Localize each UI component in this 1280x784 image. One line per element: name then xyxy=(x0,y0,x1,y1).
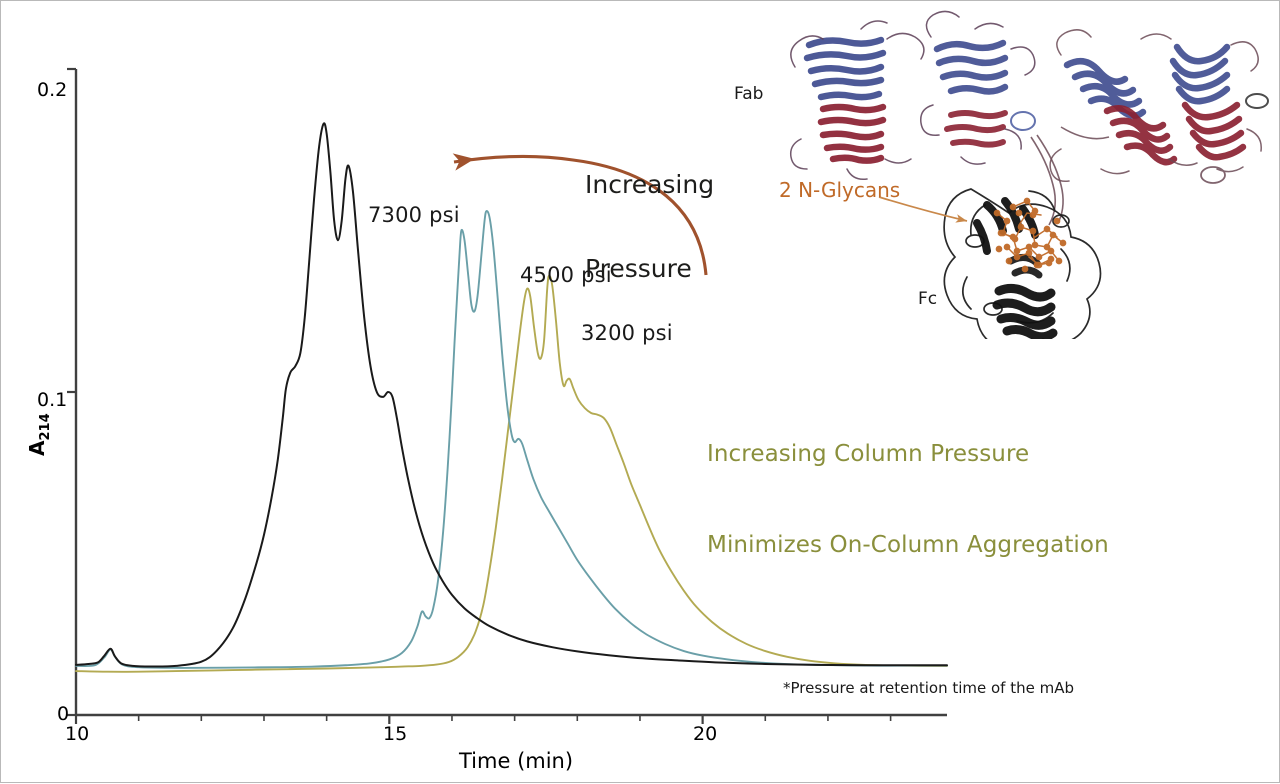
y-axis-title-main: A xyxy=(25,441,49,456)
fc-domain xyxy=(944,189,1100,339)
increasing-pressure-line1: Increasing xyxy=(585,171,714,199)
fab-left-domain xyxy=(791,21,924,179)
y-tick-0.2: 0.2 xyxy=(37,79,67,101)
figure-canvas: 0.2 0.1 0 A214 10 15 20 Time (min) 7300 … xyxy=(0,0,1280,783)
y-tick-0.1: 0.1 xyxy=(37,389,67,411)
x-axis-title: Time (min) xyxy=(459,749,573,773)
y-axis-title: A214 xyxy=(25,413,53,456)
conclusion-text: Increasing Column Pressure Minimizes On-… xyxy=(707,378,1109,621)
footnote: *Pressure at retention time of the mAb xyxy=(783,679,1074,697)
x-tick-15: 15 xyxy=(383,723,407,745)
x-tick-10: 10 xyxy=(65,723,89,745)
mab-structure-illustration xyxy=(761,9,1280,339)
increasing-pressure-line2: Pressure xyxy=(585,255,714,283)
fc-label: Fc xyxy=(918,289,937,309)
fab-label: Fab xyxy=(734,84,763,104)
hinge-linker xyxy=(1031,127,1109,225)
conclusion-line2: Minimizes On-Column Aggregation xyxy=(707,530,1109,560)
x-tick-20: 20 xyxy=(693,723,717,745)
fab-right-domain xyxy=(1050,30,1268,183)
glycan-label: 2 N-Glycans xyxy=(779,178,900,202)
conclusion-line1: Increasing Column Pressure xyxy=(707,439,1109,469)
y-tick-0: 0 xyxy=(57,703,69,725)
increasing-pressure-label: Increasing Pressure xyxy=(585,114,714,340)
y-axis-title-sub: 214 xyxy=(38,413,53,440)
fab-left-upper-domain xyxy=(921,11,1035,164)
